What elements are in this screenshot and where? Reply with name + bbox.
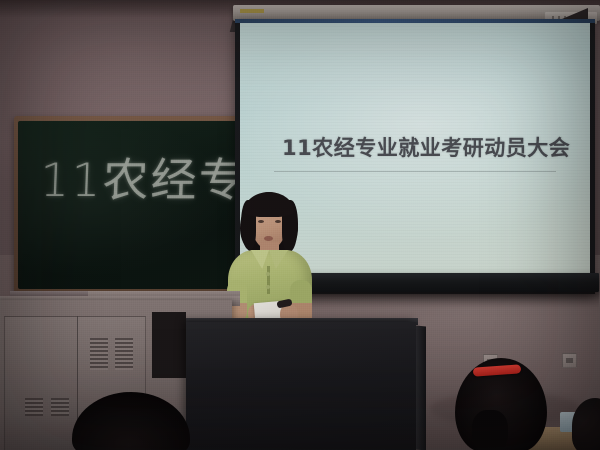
presenter-shirt-placket xyxy=(267,266,270,294)
classroom-photo: 11农经专业 11农经专业就业考研动员大会 xyxy=(0,0,600,450)
podium-side-panel xyxy=(416,325,426,450)
outlet-slot xyxy=(566,358,573,363)
roller-label-sticker xyxy=(240,9,264,13)
presenter-shirt-button xyxy=(266,272,270,276)
cabinet-door[interactable] xyxy=(4,316,78,450)
presenter-eye-right xyxy=(275,220,281,223)
cabinet-vent-icon xyxy=(90,338,108,370)
cabinet-vent-icon xyxy=(115,338,133,370)
presenter-speaker xyxy=(218,192,322,337)
cabinet-open-gap xyxy=(152,312,186,378)
slide-underline xyxy=(274,171,556,172)
presenter-shirt-button xyxy=(266,285,270,289)
presenter-hair-fringe xyxy=(244,192,294,217)
presenter-mouth xyxy=(264,236,273,241)
wall-switch-icon xyxy=(562,353,577,368)
dark-podium xyxy=(186,322,416,450)
cabinet-vent-icon xyxy=(51,398,69,416)
student-ponytail xyxy=(472,410,508,450)
presenter-eye-left xyxy=(258,220,264,223)
cabinet-vent-icon xyxy=(25,398,43,416)
slide-title: 11农经专业就业考研动员大会 xyxy=(282,132,570,162)
